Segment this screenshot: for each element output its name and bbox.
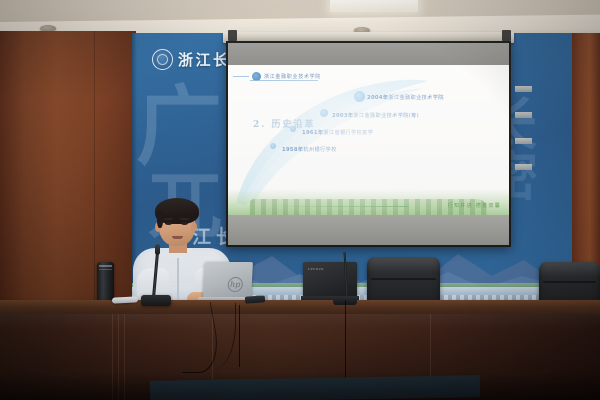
slide-footer-rule <box>268 206 409 207</box>
projected-slide: 浙江金融职业技术学院 2. 历史沿革 2004年浙江金融职业技术学院 2003年… <box>228 65 509 215</box>
slide-header-rule <box>233 76 249 77</box>
screen-bracket <box>228 30 237 41</box>
wall-tab <box>515 112 532 118</box>
wall-tab <box>515 138 532 144</box>
screen-bracket <box>502 30 511 41</box>
panel-seam <box>94 31 95 303</box>
timeline-dot <box>270 143 276 149</box>
slide-header-underline <box>250 80 318 81</box>
timeline-dot <box>354 91 365 102</box>
hp-logo-icon: hp <box>227 277 243 292</box>
timeline-year: 2003年 <box>332 113 353 119</box>
speaker-eye <box>181 222 188 225</box>
institution-emblem-icon <box>152 49 173 70</box>
timeline-entry: 1958年杭州银行学校 <box>282 146 337 153</box>
banner-logo: 浙江长 <box>152 49 231 70</box>
screen-blank-top <box>228 43 509 65</box>
timeline-text: 浙江省银行学校复学 <box>323 130 373 136</box>
shirt-placket <box>177 258 179 306</box>
timeline-year: 1961年 <box>302 130 323 136</box>
speaker-ear <box>191 222 197 232</box>
cable <box>345 300 348 378</box>
slide-header-text: 浙江金融职业技术学院 <box>264 73 321 80</box>
timeline-text: 浙江金融职业技术学院 <box>388 95 443 101</box>
cable <box>239 305 242 367</box>
smartphone <box>245 295 265 303</box>
microphone-base <box>141 295 171 306</box>
microphone-capsule <box>155 244 160 255</box>
timeline-entry: 2004年浙江金融职业技术学院 <box>367 94 444 101</box>
laptop-lid: hp <box>203 262 253 299</box>
speaker-hair <box>155 198 199 224</box>
timeline-year: 2004年 <box>367 95 388 101</box>
wall-tab <box>515 164 532 170</box>
banner-title: 浙江长 <box>178 49 231 70</box>
wall-tab <box>515 86 532 92</box>
timeline-entry: 1961年浙江省银行学校复学 <box>302 129 373 136</box>
wood-wall-panel-left <box>0 31 136 303</box>
laptop-lid: Lenovo <box>303 262 357 298</box>
timeline-entry: 2003年浙江金融职业技术学院(筹) <box>332 112 419 119</box>
screen-blank-bottom <box>228 215 509 245</box>
speaker-mouth <box>172 236 183 239</box>
slide-footer-motto: 行知并进 德技双馨 <box>448 202 501 209</box>
timeline-dot <box>290 126 296 132</box>
timeline-text: 杭州银行学校 <box>303 147 336 153</box>
lenovo-logo-icon: Lenovo <box>308 267 324 271</box>
ceiling-light-panel <box>330 0 418 12</box>
speaker-eye <box>165 222 172 225</box>
slide-header: 浙江金融职业技术学院 <box>233 70 503 83</box>
timeline-text: 浙江金融职业技术学院(筹) <box>353 113 419 119</box>
presentation-room-photo: 广 兀 长 密 浙江长 浙江长 浙江金融职业技术学院 2. 历史 <box>0 0 600 400</box>
timeline-dot <box>320 109 328 117</box>
timeline-year: 1958年 <box>282 147 303 153</box>
